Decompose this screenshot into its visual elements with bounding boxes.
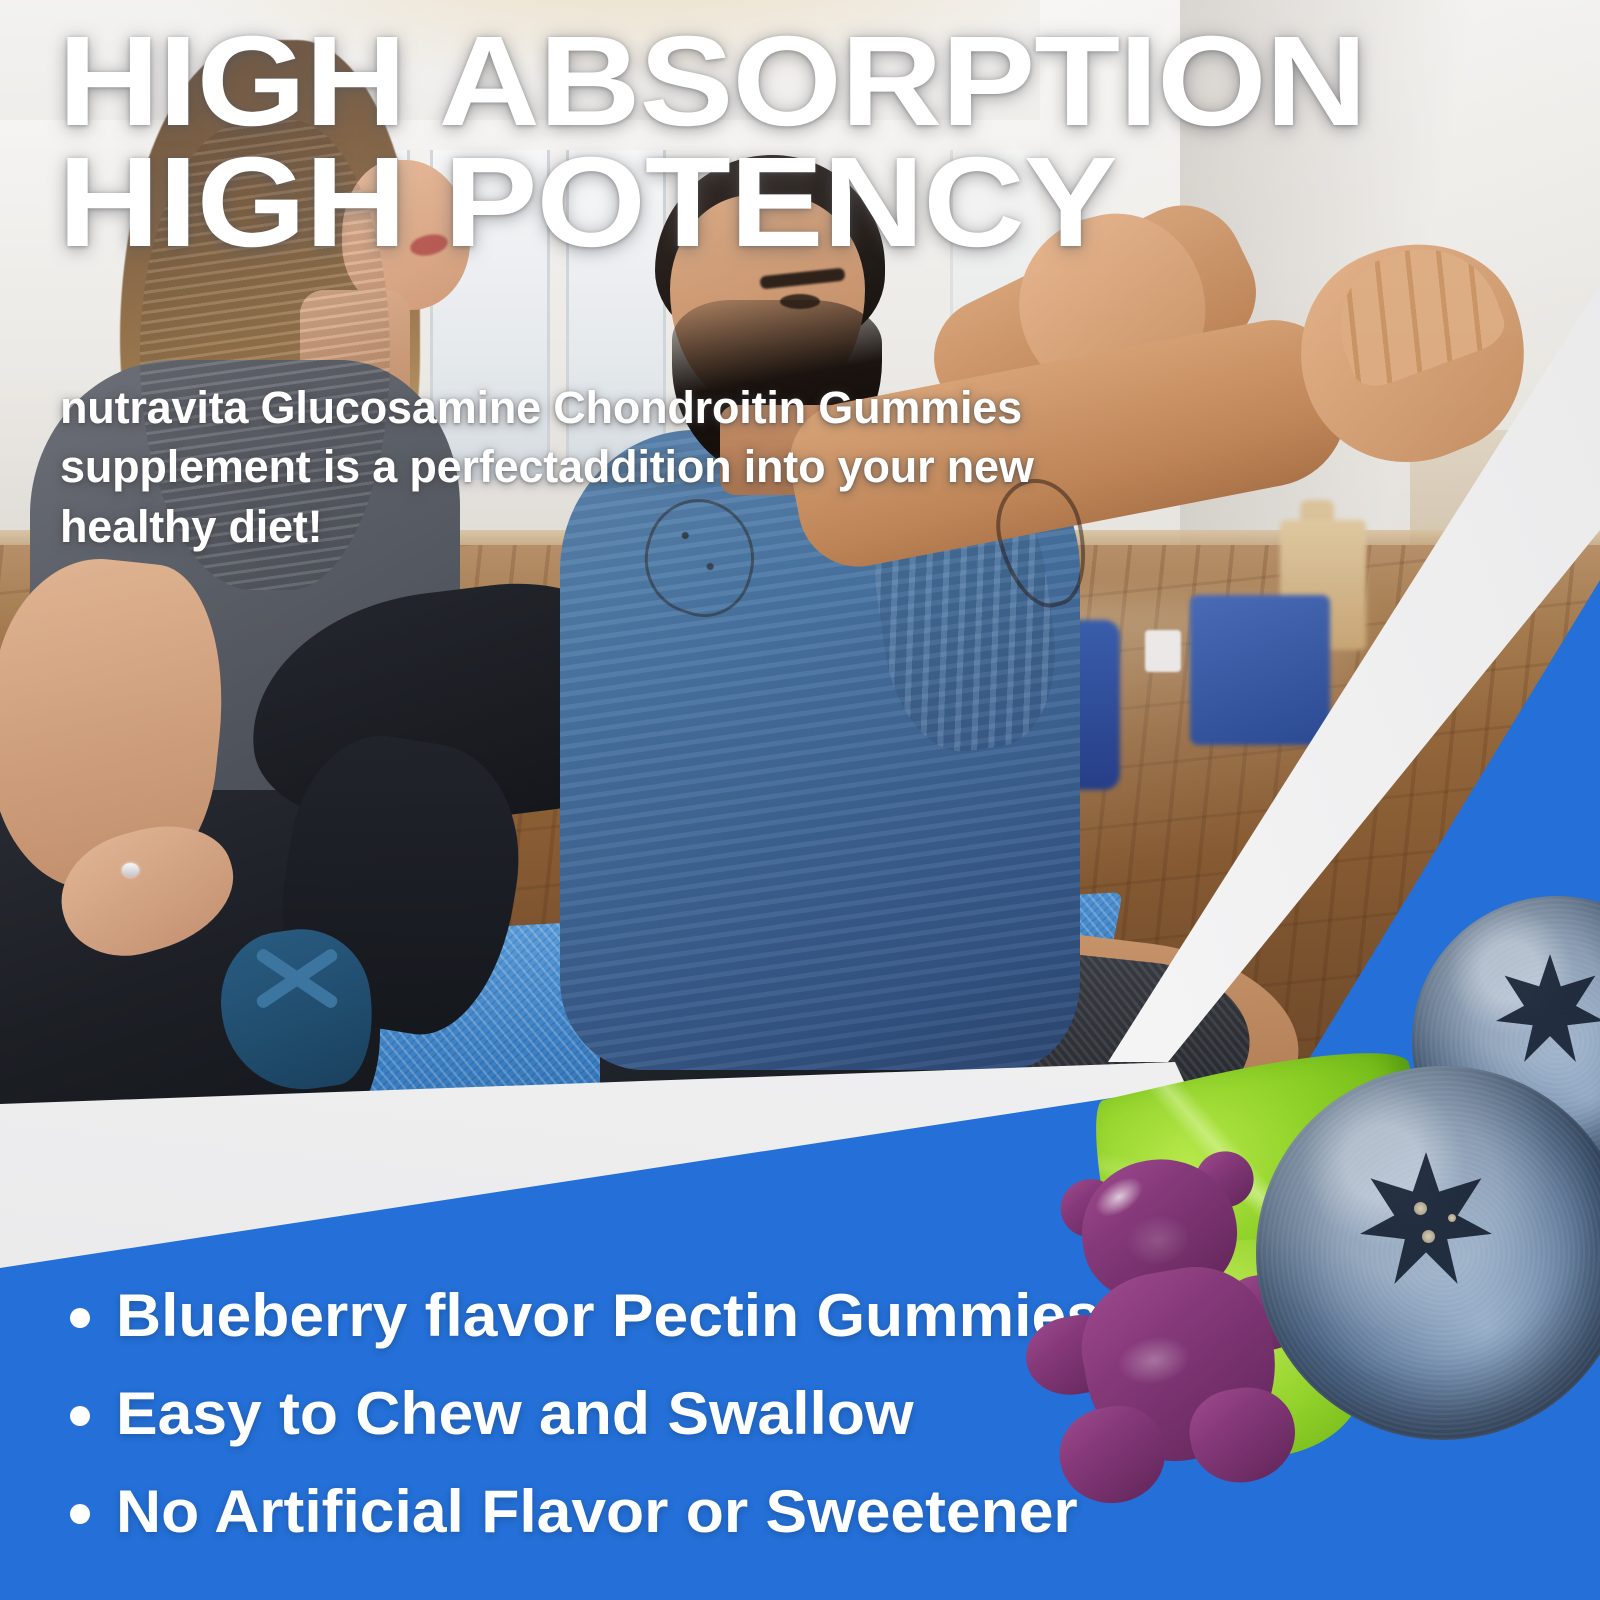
list-item: Easy to Chew and Swallow [70, 1384, 1130, 1444]
headline-line-1: HIGH ABSORPTION [58, 26, 1600, 139]
bullet-dot-icon [70, 1406, 90, 1426]
product-description: nutravita Glucosamine Chondroitin Gummie… [60, 378, 1200, 556]
yoga-block [1190, 595, 1330, 745]
product-imagery-cluster [1010, 930, 1600, 1600]
feature-label: No Artificial Flavor or Sweetener [116, 1482, 1078, 1542]
cluster-fade [1010, 1530, 1600, 1600]
calyx-detail [1448, 1214, 1456, 1222]
page-title: HIGH ABSORPTION HIGH POTENCY [58, 26, 1538, 259]
headline-line-2: HIGH POTENCY [58, 147, 1600, 260]
bullet-dot-icon [70, 1504, 90, 1524]
feature-label: Blueberry flavor Pectin Gummies [116, 1286, 1101, 1346]
feature-label: Easy to Chew and Swallow [116, 1384, 914, 1444]
calyx-detail [1414, 1202, 1427, 1215]
list-item: Blueberry flavor Pectin Gummies [70, 1286, 1130, 1346]
product-banner: HIGH ABSORPTION HIGH POTENCY nutravita G… [0, 0, 1600, 1600]
woman-ring [122, 863, 139, 877]
list-item: No Artificial Flavor or Sweetener [70, 1482, 1130, 1542]
calyx-detail [1422, 1230, 1435, 1243]
bullet-dot-icon [70, 1308, 90, 1328]
wall-outlet [1145, 630, 1181, 672]
feature-list: Blueberry flavor Pectin Gummies Easy to … [70, 1286, 1130, 1580]
